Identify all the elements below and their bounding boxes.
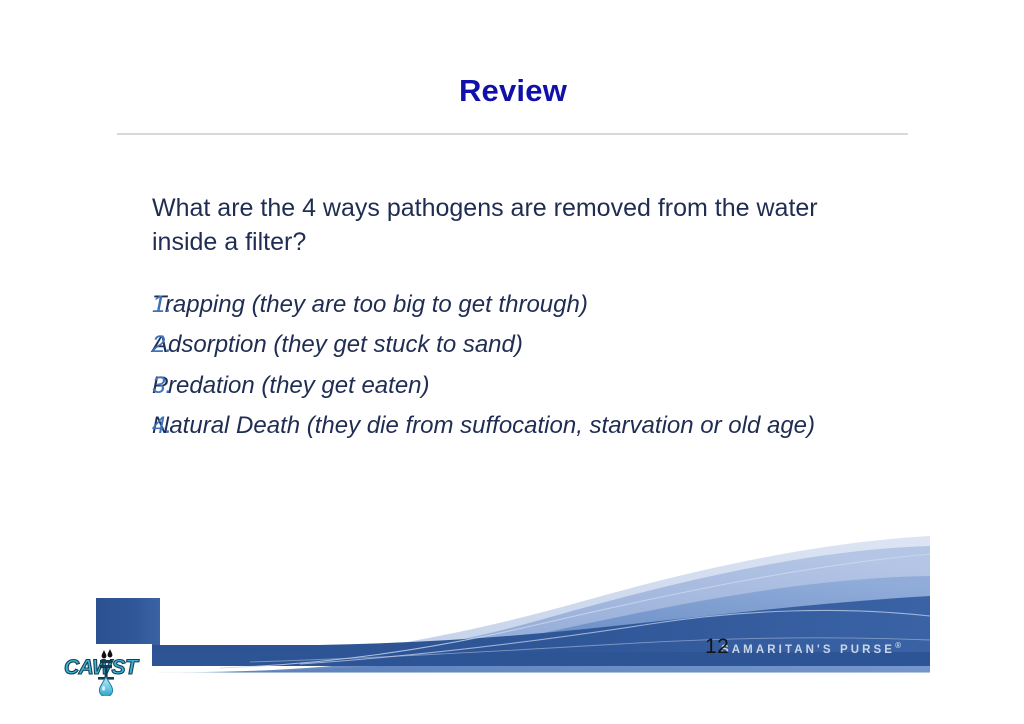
list-item-label: Adsorption (they get stuck to sand): [188, 329, 912, 361]
list-item: 2. Adsorption (they get stuck to sand): [152, 329, 912, 361]
list-item-label: Trapping (they are too big to get throug…: [188, 289, 912, 321]
list-item-label: Natural Death (they die from suffocation…: [188, 410, 912, 442]
cawst-logo: CAWST: [58, 644, 152, 696]
organization-name: SAMARITAN'S PURSE: [721, 644, 895, 656]
list-item: 4. Natural Death (they die from suffocat…: [152, 410, 912, 442]
list-item-number: 4.: [152, 410, 184, 442]
title-divider: [117, 133, 908, 135]
list-item-number: 1.: [152, 289, 184, 321]
registered-trademark-icon: ®: [895, 641, 901, 650]
list-item-number: 2.: [152, 329, 184, 361]
list-item: 1. Trapping (they are too big to get thr…: [152, 289, 912, 321]
wave-decoration: [0, 520, 1024, 724]
question-text: What are the 4 ways pathogens are remove…: [152, 192, 882, 259]
slide-canvas: Review What are the 4 ways pathogens are…: [0, 0, 1024, 724]
organization-label: SAMARITAN'S PURSE®: [721, 641, 901, 656]
list-item-number: 3.: [152, 370, 184, 402]
answer-list: 1. Trapping (they are too big to get thr…: [152, 289, 912, 442]
page-title: Review: [118, 74, 908, 108]
list-item-label: Predation (they get eaten): [188, 370, 912, 402]
list-item: 3. Predation (they get eaten): [152, 370, 912, 402]
page-number: 12: [705, 635, 729, 659]
